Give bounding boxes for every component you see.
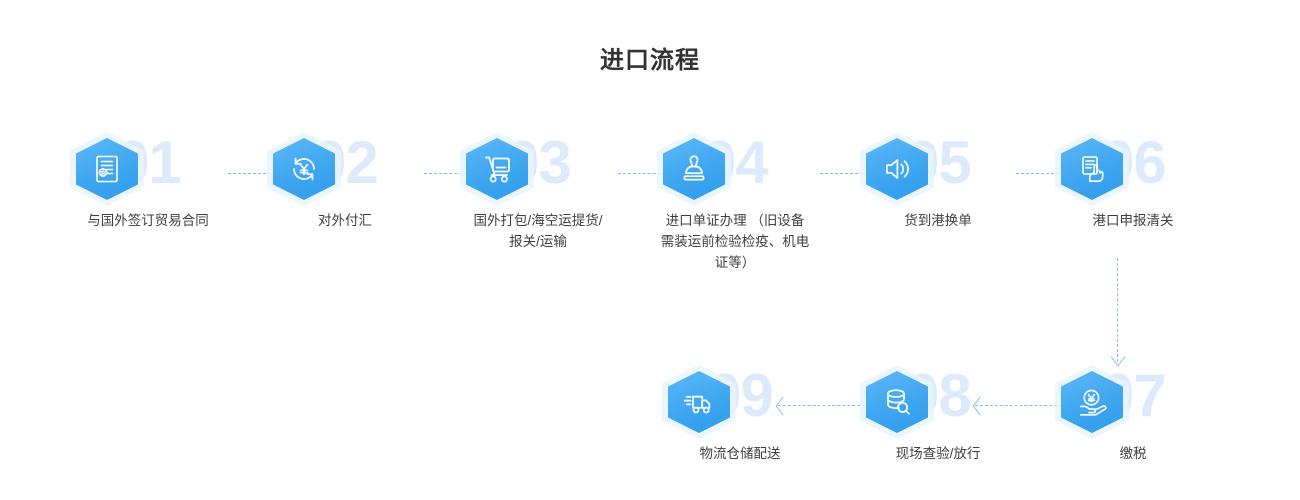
step-label: 物流仓储配送 bbox=[650, 443, 830, 464]
stamp-seal-icon bbox=[677, 152, 711, 186]
import-process-flow-diagram: 01 与国外签订贸易合同02 对外付汇03 国外打包 bbox=[0, 0, 1300, 500]
step-label: 国外打包/海空运提货/ 报关/运输 bbox=[428, 210, 648, 252]
flow-step-01[interactable]: 01 与国外签订贸易合同 bbox=[58, 130, 238, 208]
flow-step-05[interactable]: 05 货到港换单 bbox=[848, 130, 1028, 208]
step-label: 港口申报清关 bbox=[1043, 210, 1223, 231]
flow-step-09[interactable]: 09 物流仓储配送 bbox=[650, 363, 830, 441]
hand-coin-yuan-icon bbox=[1075, 385, 1109, 419]
step-badge: 06 bbox=[1043, 130, 1223, 208]
step-badge: 01 bbox=[58, 130, 238, 208]
flow-step-08[interactable]: 08 现场查验/放行 bbox=[848, 363, 1028, 441]
hand-declaration-icon bbox=[1075, 152, 1109, 186]
flow-step-02[interactable]: 02 对外付汇 bbox=[255, 130, 435, 208]
flow-step-06[interactable]: 06 港口申报清关 bbox=[1043, 130, 1223, 208]
step-label: 现场查验/放行 bbox=[848, 443, 1028, 464]
step-badge: 08 bbox=[848, 363, 1028, 441]
step-label: 进口单证办理 （旧设备 需装运前检验检疫、机电 证等） bbox=[625, 210, 845, 273]
step-label: 与国外签订贸易合同 bbox=[58, 210, 238, 231]
currency-exchange-yuan-icon bbox=[287, 152, 321, 186]
delivery-truck-icon bbox=[682, 385, 716, 419]
flow-step-04[interactable]: 04 进口单证办理 （旧设备 需装运前检验检疫、机电 证等） bbox=[645, 130, 825, 208]
step-badge: 03 bbox=[448, 130, 628, 208]
flow-step-03[interactable]: 03 国外打包/海空运提货/ 报关/运输 bbox=[448, 130, 628, 208]
hand-truck-icon bbox=[480, 152, 514, 186]
step-badge: 02 bbox=[255, 130, 435, 208]
database-search-icon bbox=[880, 385, 914, 419]
step-badge: 07 bbox=[1043, 363, 1223, 441]
step-label: 货到港换单 bbox=[848, 210, 1028, 231]
flow-step-07[interactable]: 07 缴税 bbox=[1043, 363, 1223, 441]
step-label: 对外付汇 bbox=[255, 210, 435, 231]
connector-06-07 bbox=[1112, 258, 1124, 362]
step-label: 缴税 bbox=[1043, 443, 1223, 464]
contract-document-icon bbox=[90, 152, 124, 186]
step-badge: 05 bbox=[848, 130, 1028, 208]
step-badge: 04 bbox=[645, 130, 825, 208]
step-badge: 09 bbox=[650, 363, 830, 441]
speaker-announce-icon bbox=[880, 152, 914, 186]
